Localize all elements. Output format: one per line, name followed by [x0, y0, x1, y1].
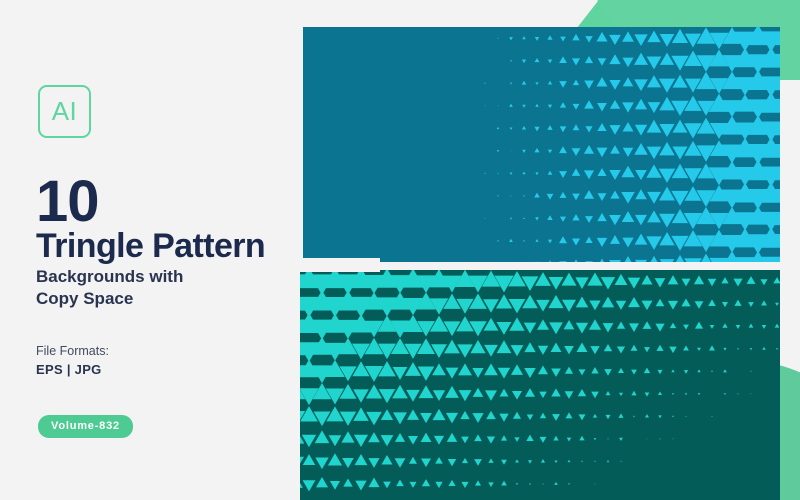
volume-badge: Volume-832 [38, 415, 133, 438]
page-title: Tringle Pattern [36, 229, 265, 265]
page-subtitle: Backgrounds withCopy Space [36, 266, 276, 310]
ai-format-badge-label: AI [52, 96, 78, 127]
preview-top[interactable] [303, 27, 780, 262]
ai-format-badge: AI [38, 85, 91, 138]
preview-bottom[interactable] [296, 270, 780, 500]
file-formats-value: EPS | JPG [36, 362, 102, 377]
poster-canvas: AI 10 Tringle Pattern Backgrounds withCo… [0, 0, 800, 500]
triangle-pattern-top [303, 27, 780, 262]
headline-count: 10 [36, 173, 99, 231]
info-column: AI 10 Tringle Pattern Backgrounds withCo… [0, 0, 300, 500]
file-formats-label: File Formats: [36, 344, 109, 358]
triangle-pattern-bottom [296, 270, 780, 500]
panel-notch-spacer [296, 258, 380, 272]
